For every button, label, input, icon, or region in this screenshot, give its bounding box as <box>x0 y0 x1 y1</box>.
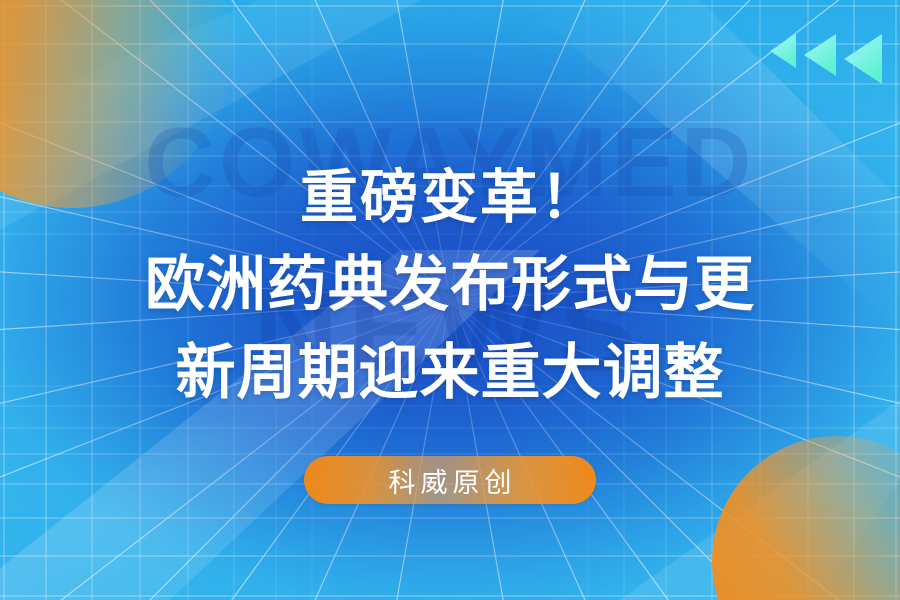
badge-container: 科威原创 <box>0 456 900 504</box>
arrow-left-medium-icon <box>804 34 836 76</box>
original-content-badge[interactable]: 科威原创 <box>304 456 596 504</box>
arrow-left-large-icon <box>844 34 882 84</box>
arrow-cluster <box>770 34 882 84</box>
headline-line-2: 欧洲药典发布形式与更 <box>0 241 900 329</box>
headline-line-1: 重磅变革！ <box>0 155 900 241</box>
headline: 重磅变革！ 欧洲药典发布形式与更 新周期迎来重大调整 <box>0 155 900 417</box>
arrow-left-small-icon <box>770 34 796 68</box>
poster-canvas: COWAYMED NEWS <box>0 0 900 600</box>
headline-line-3: 新周期迎来重大调整 <box>0 329 900 417</box>
